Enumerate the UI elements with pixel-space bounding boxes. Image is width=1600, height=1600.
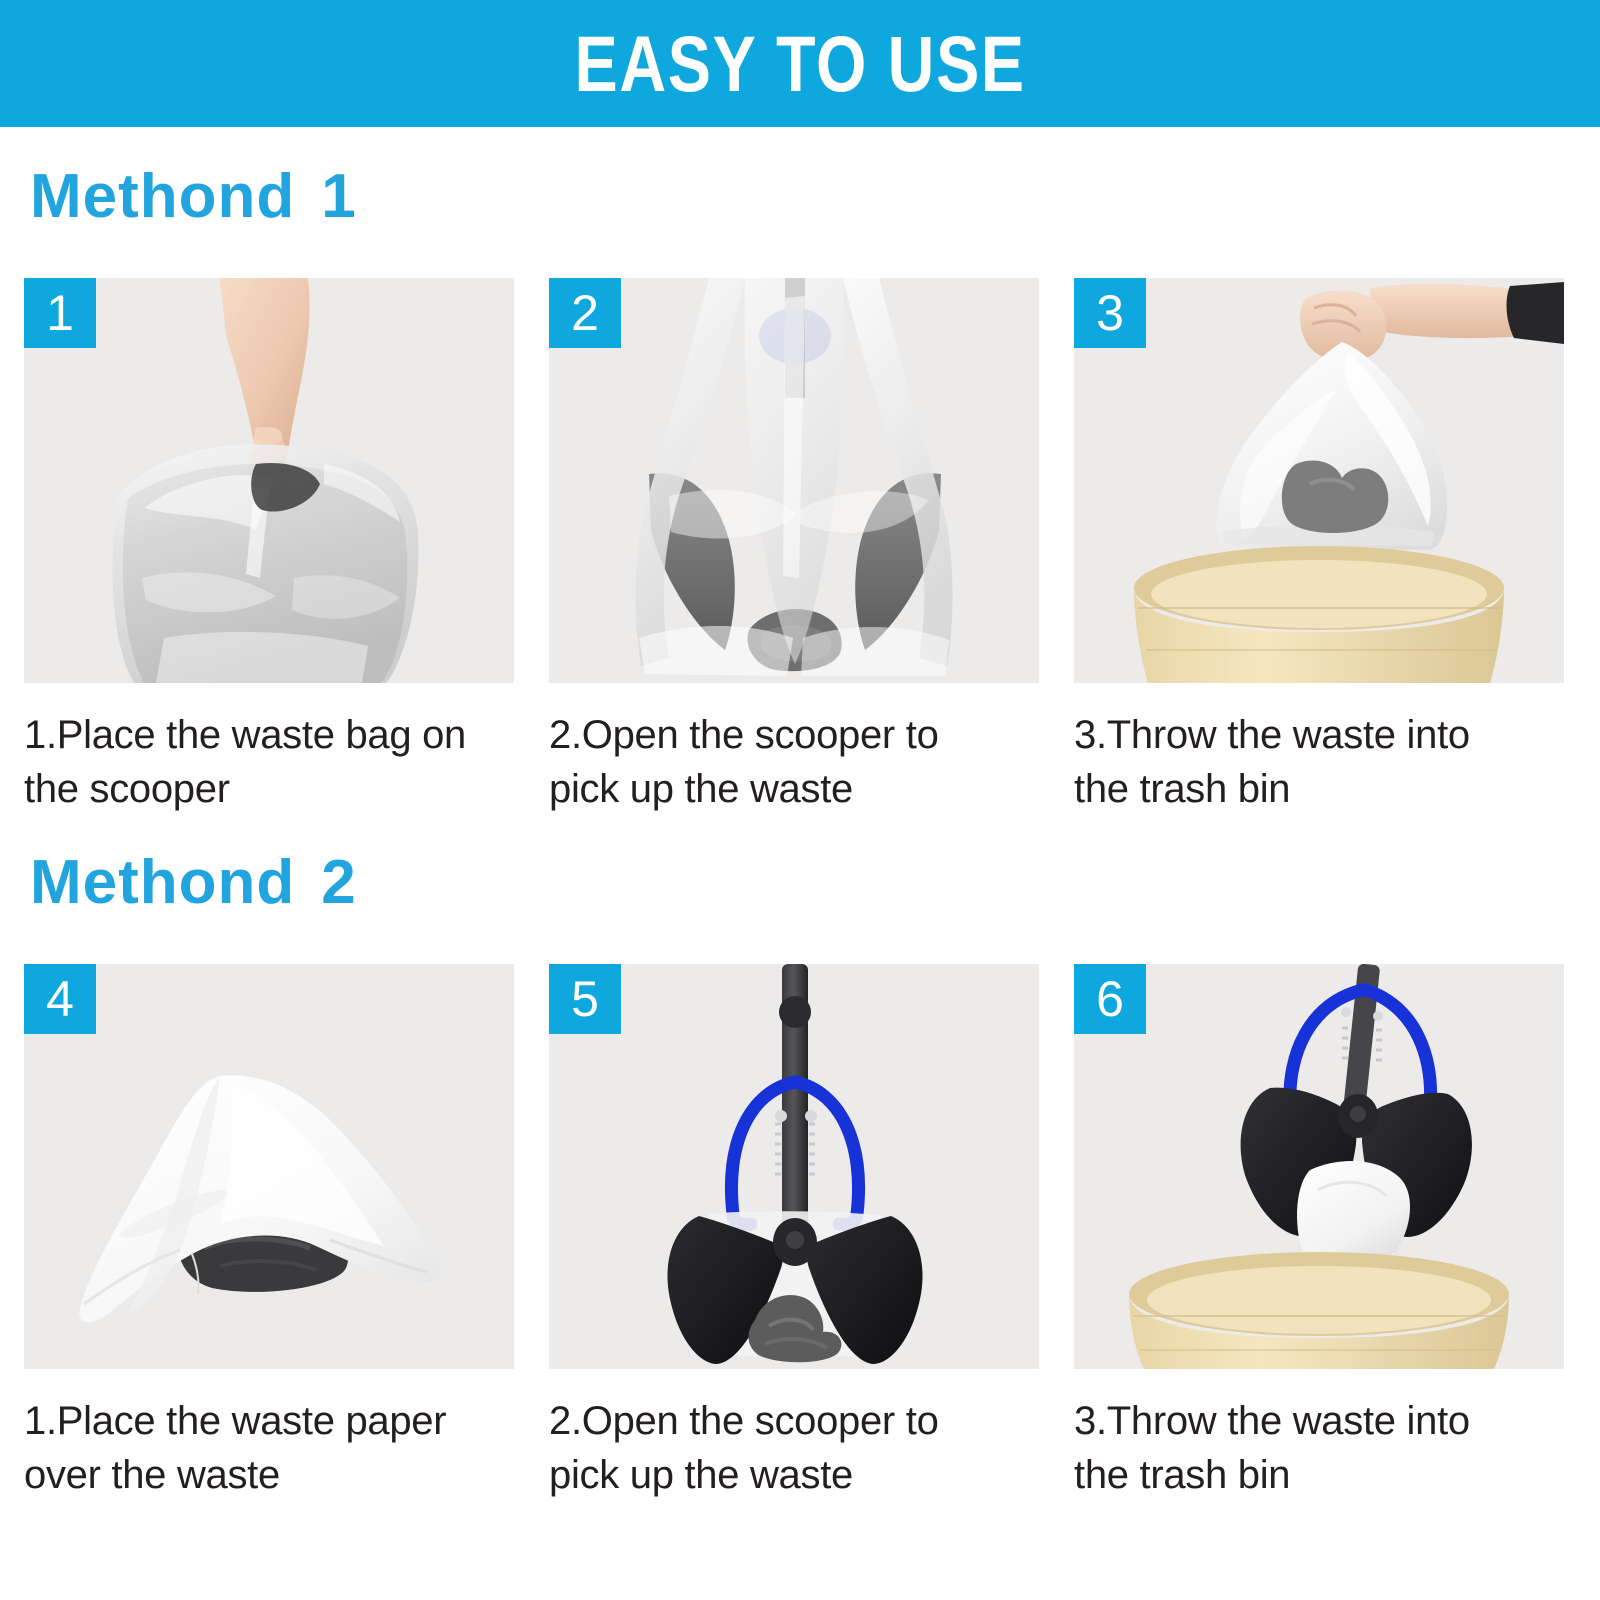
step-image-3: 3 bbox=[1074, 278, 1564, 683]
step-card-3: 3 bbox=[1074, 278, 1564, 816]
step-image-1: 1 bbox=[24, 278, 514, 683]
method-2-heading-text: Methond bbox=[30, 848, 295, 917]
scene-hand-dropping-bag-into-bin bbox=[1074, 278, 1564, 683]
scene-hand-pushing-bag-into-scooper bbox=[24, 278, 514, 683]
step-row: 4 bbox=[24, 964, 1576, 1502]
infographic-page: EASY TO USE Methond1 1 bbox=[0, 0, 1600, 1600]
method-2-heading: Methond2 bbox=[30, 852, 357, 914]
step-image-6: 6 bbox=[1074, 964, 1564, 1369]
scene-art bbox=[24, 964, 514, 1369]
scene-scooper-releasing-paper-into-bin bbox=[1074, 964, 1564, 1369]
scene-paper-draped-over-waste bbox=[24, 964, 514, 1369]
step-badge-5: 5 bbox=[549, 964, 621, 1034]
step-card-4: 4 bbox=[24, 964, 514, 1502]
step-caption-2: 2.Open the scooper to pick up the waste bbox=[549, 709, 1049, 816]
step-badge-4: 4 bbox=[24, 964, 96, 1034]
step-card-5: 5 bbox=[549, 964, 1039, 1502]
step-caption-4: 1.Place the waste paper over the waste bbox=[24, 1395, 524, 1502]
method-1-heading-number: 1 bbox=[321, 162, 356, 231]
scene-art bbox=[549, 278, 1039, 683]
method-1-heading: Methond1 bbox=[30, 166, 357, 228]
step-image-2: 2 bbox=[549, 278, 1039, 683]
scene-art bbox=[24, 278, 514, 683]
page-title: EASY TO USE bbox=[574, 24, 1025, 103]
scene-art bbox=[1074, 278, 1564, 683]
step-badge-6: 6 bbox=[1074, 964, 1146, 1034]
scene-art bbox=[1074, 964, 1564, 1369]
step-card-2: 2 bbox=[549, 278, 1039, 816]
step-badge-3: 3 bbox=[1074, 278, 1146, 348]
method-2-heading-number: 2 bbox=[321, 848, 356, 917]
scene-bag-covered-scooper-open-over-waste bbox=[549, 278, 1039, 683]
step-caption-5: 2.Open the scooper to pick up the waste bbox=[549, 1395, 1049, 1502]
step-badge-1: 1 bbox=[24, 278, 96, 348]
step-image-5: 5 bbox=[549, 964, 1039, 1369]
header-banner: EASY TO USE bbox=[0, 0, 1600, 127]
scene-scooper-open-over-waste bbox=[549, 964, 1039, 1369]
method-2-steps: 4 bbox=[24, 964, 1576, 1502]
step-caption-1: 1.Place the waste bag on the scooper bbox=[24, 709, 524, 816]
step-image-4: 4 bbox=[24, 964, 514, 1369]
step-caption-3: 3.Throw the waste into the trash bin bbox=[1074, 709, 1574, 816]
step-card-6: 6 bbox=[1074, 964, 1564, 1502]
method-1-steps: 1 bbox=[24, 278, 1576, 816]
step-badge-2: 2 bbox=[549, 278, 621, 348]
step-row: 1 bbox=[24, 278, 1576, 816]
step-card-1: 1 bbox=[24, 278, 514, 816]
step-caption-6: 3.Throw the waste into the trash bin bbox=[1074, 1395, 1574, 1502]
method-1-heading-text: Methond bbox=[30, 162, 295, 231]
scene-art bbox=[549, 964, 1039, 1369]
